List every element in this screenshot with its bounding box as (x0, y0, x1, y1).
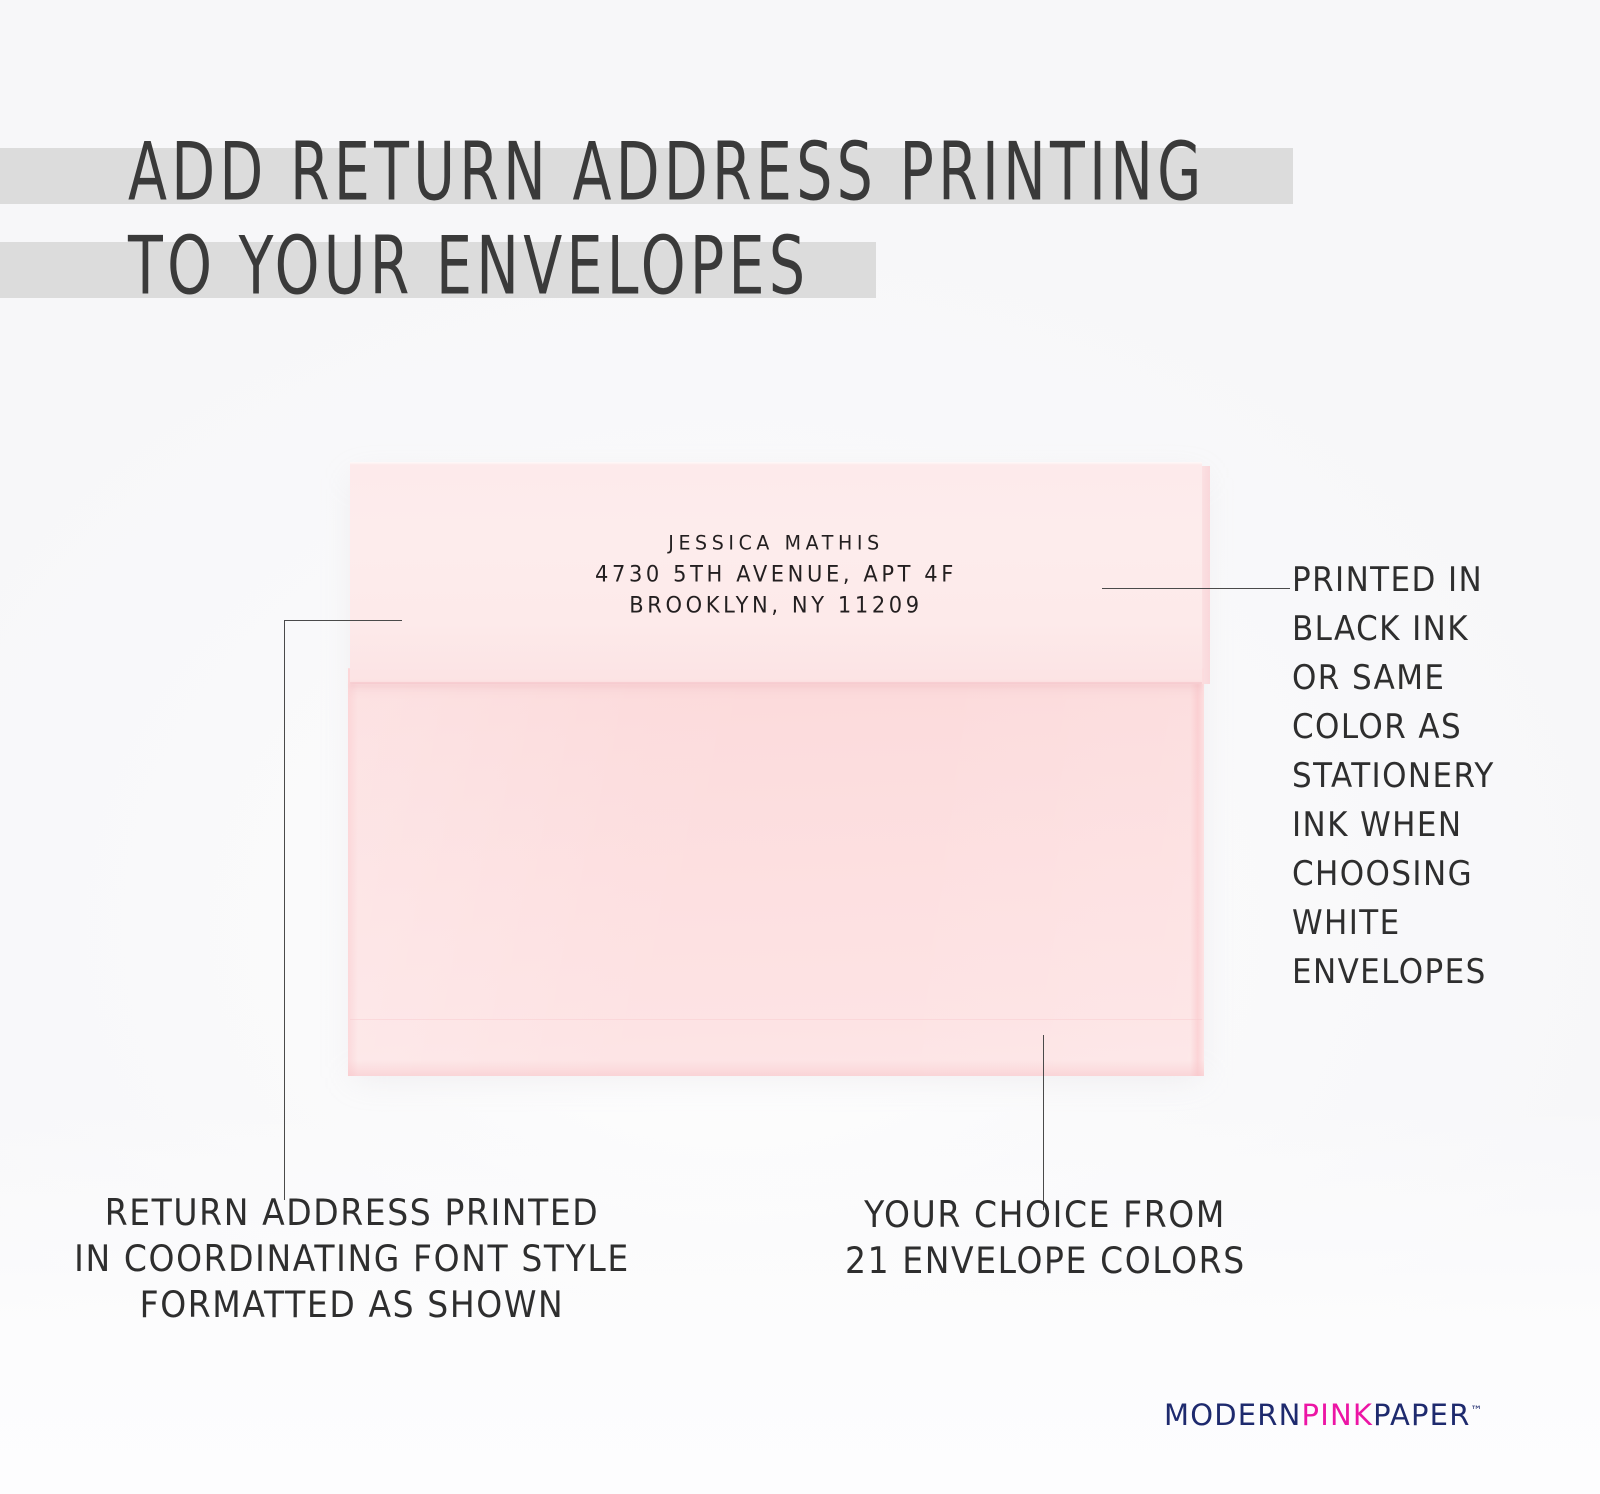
envelope-bottom-fold (348, 1060, 1204, 1076)
headline-line-2: TO YOUR ENVELOPES (128, 220, 809, 314)
envelope-body-sheen (348, 668, 1204, 1076)
return-address-line-city: BROOKLYN, NY 11209 (350, 589, 1202, 622)
logo-part-pink: PINK (1302, 1398, 1374, 1432)
envelope-body-right-edge (1190, 668, 1204, 1076)
logo-part-paper: PAPER (1373, 1398, 1470, 1432)
callout-right-line-9: ENVELOPES (1292, 946, 1592, 999)
headline-row-1: ADD RETURN ADDRESS PRINTING (0, 134, 1600, 220)
trademark-symbol: ™ (1471, 1403, 1483, 1417)
envelope-mockup: JESSICA MATHIS 4730 5TH AVENUE, APT 4F B… (348, 462, 1204, 1076)
envelope-body-seam (350, 1019, 1202, 1020)
headline-line-1: ADD RETURN ADDRESS PRINTING (128, 126, 1206, 220)
callout-right-line-1: PRINTED IN (1292, 554, 1592, 607)
leader-line-middle-vertical (1043, 1035, 1044, 1210)
callout-mid-line-1: YOUR CHOICE FROM (845, 1190, 1245, 1241)
callout-left-line-2: IN COORDINATING FONT STYLE (42, 1234, 662, 1285)
callout-right-line-6: INK WHEN (1292, 799, 1592, 852)
page-title: ADD RETURN ADDRESS PRINTING TO YOUR ENVE… (0, 134, 1600, 322)
logo-part-modern: MODERN (1164, 1398, 1302, 1432)
envelope-flap-shadow (350, 683, 1202, 697)
callout-printed-in-black-ink: PRINTED IN BLACK INK OR SAME COLOR AS ST… (1292, 556, 1592, 997)
return-address-block: JESSICA MATHIS 4730 5TH AVENUE, APT 4F B… (350, 528, 1202, 621)
envelope-flap: JESSICA MATHIS 4730 5TH AVENUE, APT 4F B… (350, 462, 1202, 684)
envelope-flap-top-edge (350, 462, 1202, 465)
callout-mid-line-2: 21 ENVELOPE COLORS (845, 1236, 1245, 1287)
brand-logo[interactable]: MODERNPINKPAPER™ (1164, 1398, 1483, 1432)
callout-right-line-4: COLOR AS (1292, 701, 1592, 754)
callout-right-line-3: OR SAME (1292, 652, 1592, 705)
leader-line-right-horizontal (1102, 588, 1290, 589)
leader-line-left-horizontal (284, 620, 402, 621)
callout-envelope-colors: YOUR CHOICE FROM 21 ENVELOPE COLORS (845, 1192, 1245, 1284)
callout-right-line-5: STATIONERY (1292, 750, 1592, 803)
headline-row-2: TO YOUR ENVELOPES (0, 228, 1600, 314)
callout-right-line-2: BLACK INK (1292, 603, 1592, 656)
envelope-body-left-edge (348, 668, 358, 1076)
callout-right-line-7: CHOOSING (1292, 848, 1592, 901)
return-address-line-street: 4730 5TH AVENUE, APT 4F (350, 558, 1202, 591)
callout-return-address-printed: RETURN ADDRESS PRINTED IN COORDINATING F… (42, 1190, 662, 1328)
callout-left-line-3: FORMATTED AS SHOWN (42, 1280, 662, 1331)
return-address-line-name: JESSICA MATHIS (350, 527, 1202, 560)
envelope-body (348, 668, 1204, 1076)
leader-line-left-vertical (284, 620, 285, 1200)
callout-right-line-8: WHITE (1292, 897, 1592, 950)
callout-left-line-1: RETURN ADDRESS PRINTED (42, 1188, 662, 1239)
envelope-flap-right-lip (1202, 466, 1210, 684)
